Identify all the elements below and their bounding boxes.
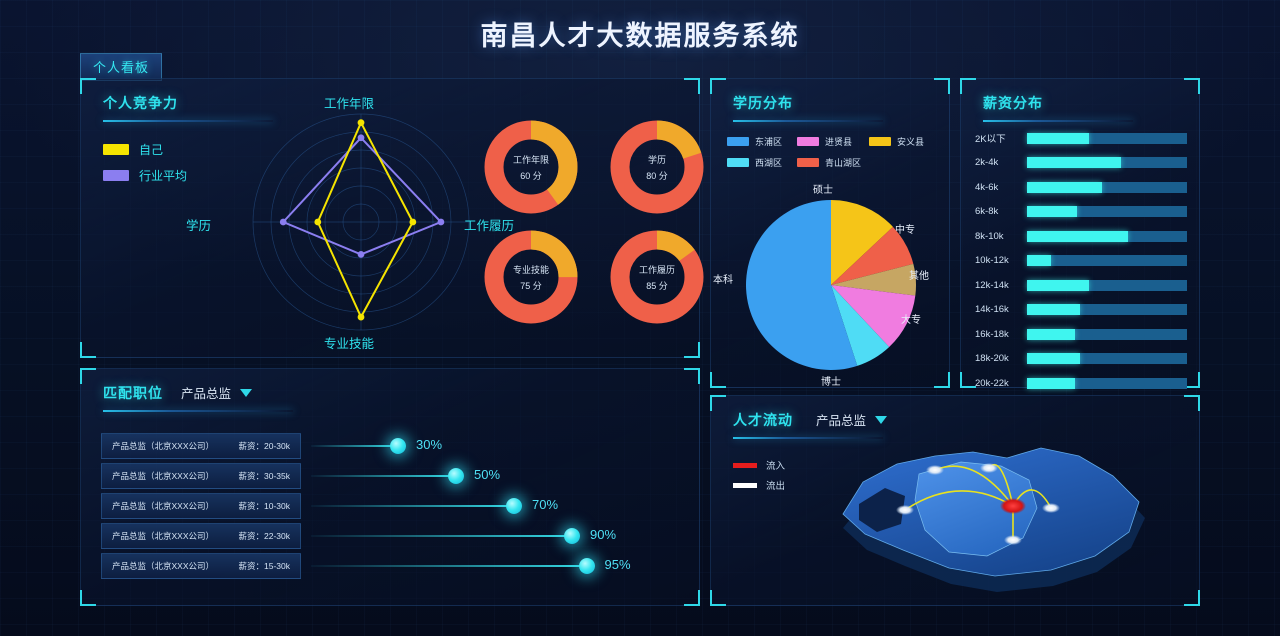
job-match-percent: 70%: [532, 497, 558, 512]
dropdown-value: 产品总监: [816, 410, 866, 429]
donut-label: 工作履历: [639, 263, 675, 276]
matched-job-row[interactable]: 产品总监（北京XXX公司）薪资：10-30k70%: [101, 491, 681, 521]
job-title: 产品总监（北京XXX公司）: [112, 530, 214, 542]
corner-decor: [710, 372, 726, 388]
title-underline: [103, 410, 293, 412]
salary-bar-fill: [1027, 304, 1080, 315]
salary-bar-label: 14k-16k: [975, 304, 1027, 315]
legend-swatch-icon: [869, 137, 891, 146]
legend-item-self: 自己: [103, 141, 187, 158]
radar-chart: 工作年限 工作履历 专业技能 学历: [236, 97, 486, 347]
radar-series-industry-average: [283, 138, 441, 255]
job-match-meter: 90%: [311, 521, 681, 551]
salary-bar-row: 2K以下: [975, 127, 1187, 149]
job-card[interactable]: 产品总监（北京XXX公司）薪资：15-30k: [101, 553, 301, 579]
job-match-line: [311, 475, 456, 477]
flow-node[interactable]: [896, 505, 914, 515]
radar-points-self: [314, 119, 416, 320]
job-match-meter: 30%: [311, 431, 681, 461]
job-card[interactable]: 产品总监（北京XXX公司）薪资：10-30k: [101, 493, 301, 519]
salary-bar-fill: [1027, 280, 1089, 291]
salary-bar-label: 2K以下: [975, 131, 1027, 145]
salary-bar-fill: [1027, 353, 1080, 364]
job-match-handle[interactable]: [390, 438, 406, 454]
matched-job-row[interactable]: 产品总监（北京XXX公司）薪资：20-30k30%: [101, 431, 681, 461]
corner-decor: [960, 78, 976, 94]
matched-jobs-list: 产品总监（北京XXX公司）薪资：20-30k30%产品总监（北京XXX公司）薪资…: [101, 431, 681, 581]
salary-bar-track: [1027, 133, 1187, 144]
legend-item-jinxian[interactable]: 进贤县: [797, 135, 869, 148]
legend-item-xihu[interactable]: 西湖区: [727, 156, 797, 169]
flow-node[interactable]: [926, 465, 944, 475]
job-card[interactable]: 产品总监（北京XXX公司）薪资：22-30k: [101, 523, 301, 549]
corner-decor: [1184, 395, 1200, 411]
donut-score: 80 分: [646, 169, 668, 182]
job-match-percent: 30%: [416, 437, 442, 452]
map-svg: [801, 434, 1197, 602]
salary-bar-track: [1027, 255, 1187, 266]
salary-bar-row: 8k-10k: [975, 225, 1187, 247]
corner-decor: [684, 78, 700, 94]
corner-decor: [1184, 78, 1200, 94]
corner-decor: [684, 342, 700, 358]
pie-label-1: 中专: [895, 221, 915, 236]
donut-professional-skill: 专业技能 75 分: [481, 227, 581, 327]
job-salary: 薪资：22-30k: [239, 530, 291, 542]
panel-header: 薪资分布: [983, 93, 1133, 122]
salary-bar-track: [1027, 206, 1187, 217]
salary-bar-track: [1027, 157, 1187, 168]
salary-bar-label: 4k-6k: [975, 182, 1027, 193]
pie-label-0: 硕士: [813, 181, 833, 196]
salary-bar-fill: [1027, 133, 1089, 144]
corner-decor: [684, 590, 700, 606]
flow-node[interactable]: [980, 463, 998, 473]
salary-bar-row: 2k-4k: [975, 152, 1187, 174]
pie-label-2: 其他: [909, 267, 929, 282]
salary-bar-fill: [1027, 182, 1102, 193]
legend-label: 自己: [139, 141, 163, 158]
salary-bar-row: 6k-8k: [975, 201, 1187, 223]
salary-bar-row: 4k-6k: [975, 176, 1187, 198]
radar-axis-label-0: 工作年限: [324, 93, 374, 112]
salary-bar-label: 2k-4k: [975, 157, 1027, 168]
donut-education: 学历 80 分: [607, 117, 707, 217]
salary-bar-row: 14k-16k: [975, 299, 1187, 321]
salary-bar-track: [1027, 304, 1187, 315]
salary-bar-row: 10k-12k: [975, 250, 1187, 272]
pie-slices: [746, 200, 916, 370]
flow-legend: 流入 流出: [733, 458, 785, 498]
legend-swatch-icon: [103, 170, 129, 181]
jobs-position-dropdown[interactable]: 产品总监: [181, 383, 252, 402]
salary-bar-track: [1027, 280, 1187, 291]
radar-legend: 自己 行业平均: [103, 141, 187, 193]
score-donut-grid: 工作年限 60 分 学历 80 分: [481, 117, 707, 327]
job-match-meter: 95%: [311, 551, 681, 581]
salary-bar-fill: [1027, 378, 1075, 389]
donut-center-text: 工作履历 85 分: [607, 227, 707, 327]
legend-swatch-icon: [797, 158, 819, 167]
legend-label: 西湖区: [755, 156, 782, 169]
job-title: 产品总监（北京XXX公司）: [112, 560, 214, 572]
dashboard-root: 南昌人才大数据服务系统 个人看板 个人竞争力 自己 行业平均: [0, 0, 1280, 636]
job-match-handle[interactable]: [564, 528, 580, 544]
radar-chart-svg: [236, 97, 486, 347]
salary-bar-track: [1027, 353, 1187, 364]
donut-center-text: 专业技能 75 分: [481, 227, 581, 327]
legend-swatch-icon: [727, 137, 749, 146]
salary-bar-label: 16k-18k: [975, 329, 1027, 340]
corner-decor: [710, 395, 726, 411]
job-salary: 薪资：10-30k: [239, 500, 291, 512]
panel-salary-distribution: 薪资分布 2K以下2k-4k4k-6k6k-8k8k-10k10k-12k12k…: [960, 78, 1200, 388]
job-salary: 薪资：15-30k: [239, 560, 291, 572]
job-title: 产品总监（北京XXX公司）: [112, 500, 214, 512]
matched-job-row[interactable]: 产品总监（北京XXX公司）薪资：22-30k90%: [101, 521, 681, 551]
matched-job-row[interactable]: 产品总监（北京XXX公司）薪资：30-35k50%: [101, 461, 681, 491]
pie-label-4: 博士: [821, 373, 841, 388]
chevron-down-icon: [240, 389, 252, 397]
legend-label: 行业平均: [139, 167, 187, 184]
job-match-handle[interactable]: [448, 468, 464, 484]
salary-bar-fill: [1027, 157, 1121, 168]
legend-label: 流出: [766, 478, 785, 492]
salary-bar-row: 18k-20k: [975, 348, 1187, 370]
legend-item-industry-average: 行业平均: [103, 167, 187, 184]
salary-bar-fill: [1027, 206, 1077, 217]
corner-decor: [80, 368, 96, 384]
salary-bar-track: [1027, 231, 1187, 242]
education-legend: 东浦区 进贤县 安义县 西湖区 青山湖区: [727, 135, 939, 169]
legend-item-donghu[interactable]: 东浦区: [727, 135, 797, 148]
salary-bar-label: 18k-20k: [975, 353, 1027, 364]
flow-center-node[interactable]: [1000, 498, 1026, 514]
radar-points-industry-average: [280, 134, 444, 257]
salary-bar-row: 20k-22k: [975, 372, 1187, 394]
job-match-handle[interactable]: [506, 498, 522, 514]
talent-flow-map: [801, 434, 1197, 602]
panel-talent-flow: 人才流动 产品总监 流入 流出: [710, 395, 1200, 606]
salary-bar-fill: [1027, 231, 1128, 242]
legend-swatch-icon: [733, 463, 757, 468]
chevron-down-icon: [875, 416, 887, 424]
donut-work-experience: 工作履历 85 分: [607, 227, 707, 327]
corner-decor: [80, 590, 96, 606]
panel-matched-jobs: 匹配职位 产品总监 产品总监（北京XXX公司）薪资：20-30k30%产品总监（…: [80, 368, 700, 606]
corner-decor: [934, 78, 950, 94]
legend-swatch-icon: [103, 144, 129, 155]
page-title: 南昌人才大数据服务系统: [0, 14, 1280, 53]
donut-score: 85 分: [646, 279, 668, 292]
job-match-meter: 50%: [311, 461, 681, 491]
salary-bar-track: [1027, 329, 1187, 340]
job-match-percent: 90%: [590, 527, 616, 542]
salary-bar-fill: [1027, 329, 1075, 340]
pie-chart-svg: [743, 197, 919, 373]
job-salary: 薪资：30-35k: [239, 470, 291, 482]
salary-bar-label: 10k-12k: [975, 255, 1027, 266]
donut-work-years: 工作年限 60 分: [481, 117, 581, 217]
matched-job-row[interactable]: 产品总监（北京XXX公司）薪资：15-30k95%: [101, 551, 681, 581]
dropdown-value: 产品总监: [181, 383, 231, 402]
education-pie-chart: 硕士 中专 其他 大专 博士 本科: [743, 197, 919, 373]
donut-score: 75 分: [520, 279, 542, 292]
donut-center-text: 工作年限 60 分: [481, 117, 581, 217]
corner-decor: [710, 590, 726, 606]
donut-score: 60 分: [520, 169, 542, 182]
corner-decor: [934, 372, 950, 388]
job-salary: 薪资：20-30k: [239, 440, 291, 452]
salary-bar-row: 12k-14k: [975, 274, 1187, 296]
job-match-handle[interactable]: [579, 558, 595, 574]
legend-label: 东浦区: [755, 135, 782, 148]
panel-education-distribution: 学历分布 东浦区 进贤县 安义县 西湖区 青山湖区: [710, 78, 950, 388]
donut-label: 工作年限: [513, 153, 549, 166]
radar-axis-label-2: 专业技能: [324, 333, 374, 352]
legend-label: 安义县: [897, 135, 924, 148]
panel-title-salary: 薪资分布: [983, 93, 1133, 113]
salary-bar-label: 6k-8k: [975, 206, 1027, 217]
panel-title-education: 学历分布: [733, 93, 883, 113]
job-match-line: [311, 505, 514, 507]
salary-bar-label: 20k-22k: [975, 378, 1027, 389]
legend-label: 青山湖区: [825, 156, 861, 169]
legend-swatch-icon: [733, 483, 757, 488]
legend-swatch-icon: [727, 158, 749, 167]
donut-center-text: 学历 80 分: [607, 117, 707, 217]
job-title: 产品总监（北京XXX公司）: [112, 440, 214, 452]
tab-personal-board[interactable]: 个人看板: [80, 53, 162, 81]
legend-spacer: [869, 156, 939, 169]
job-match-percent: 50%: [474, 467, 500, 482]
flow-node[interactable]: [1042, 503, 1060, 513]
flow-position-dropdown[interactable]: 产品总监: [816, 410, 887, 429]
salary-bar-label: 8k-10k: [975, 231, 1027, 242]
panel-personal-competitiveness: 个人竞争力 自己 行业平均 工作年限 工作履历: [80, 78, 700, 358]
pie-label-5: 本科: [713, 271, 733, 286]
salary-bar-row: 16k-18k: [975, 323, 1187, 345]
legend-label: 进贤县: [825, 135, 852, 148]
job-match-meter: 70%: [311, 491, 681, 521]
legend-item-anyi[interactable]: 安义县: [869, 135, 939, 148]
donut-label: 专业技能: [513, 263, 549, 276]
legend-item-inflow: 流入: [733, 458, 785, 472]
salary-bar-list: 2K以下2k-4k4k-6k6k-8k8k-10k10k-12k12k-14k1…: [975, 127, 1187, 397]
job-card[interactable]: 产品总监（北京XXX公司）薪资：20-30k: [101, 433, 301, 459]
job-title: 产品总监（北京XXX公司）: [112, 470, 214, 482]
pie-label-3: 大专: [901, 311, 921, 326]
job-match-line: [311, 565, 587, 567]
flow-node[interactable]: [1004, 535, 1022, 545]
title-underline: [733, 120, 883, 122]
salary-bar-track: [1027, 378, 1187, 389]
corner-decor: [710, 78, 726, 94]
legend-label: 流入: [766, 458, 785, 472]
corner-decor: [80, 78, 96, 94]
legend-item-outflow: 流出: [733, 478, 785, 492]
title-underline: [983, 120, 1133, 122]
corner-decor: [80, 342, 96, 358]
job-match-percent: 95%: [605, 557, 631, 572]
radar-axis-label-3: 学历: [186, 215, 211, 234]
corner-decor: [684, 368, 700, 384]
job-card[interactable]: 产品总监（北京XXX公司）薪资：30-35k: [101, 463, 301, 489]
legend-item-qingshanhu[interactable]: 青山湖区: [797, 156, 869, 169]
legend-swatch-icon: [797, 137, 819, 146]
salary-bar-fill: [1027, 255, 1051, 266]
salary-bar-label: 12k-14k: [975, 280, 1027, 291]
donut-label: 学历: [648, 153, 666, 166]
panel-header: 学历分布: [733, 93, 883, 122]
job-match-line: [311, 445, 398, 447]
job-match-line: [311, 535, 572, 537]
salary-bar-track: [1027, 182, 1187, 193]
corner-decor: [960, 372, 976, 388]
